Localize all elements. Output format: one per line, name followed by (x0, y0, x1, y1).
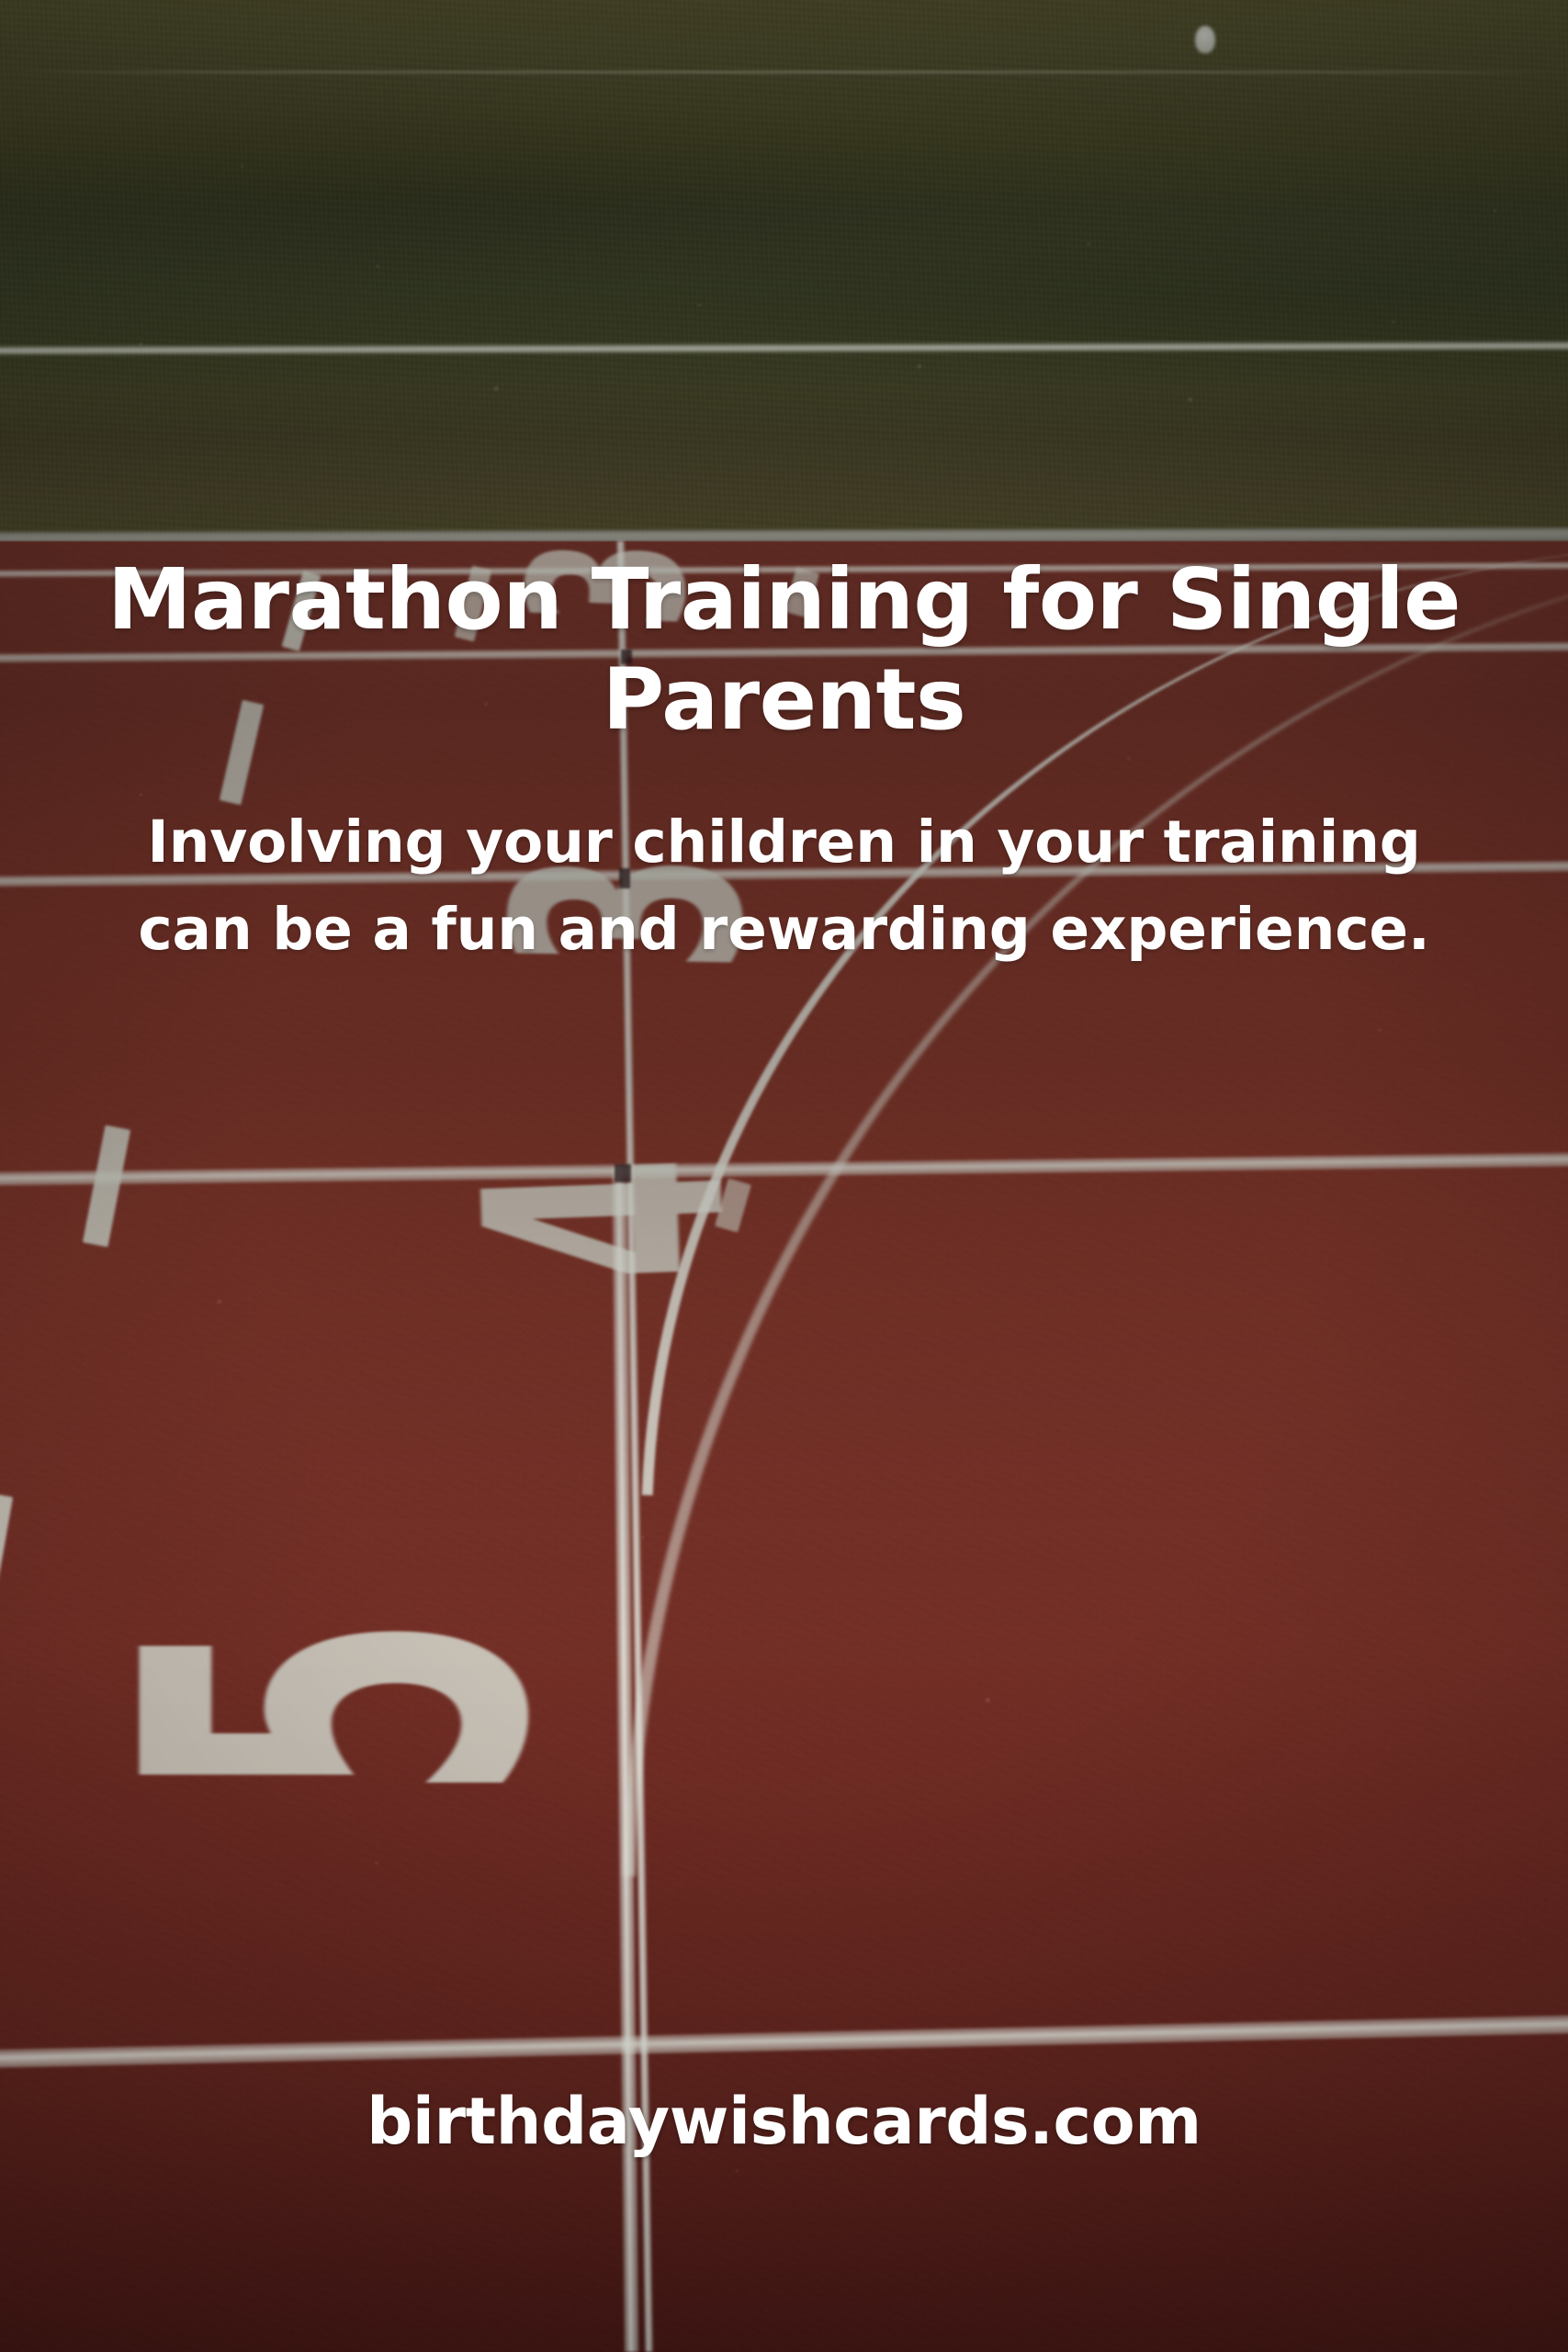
website-url: birthdaywishcards.com (0, 2084, 1568, 2159)
text-overlay: Marathon Training for Single Parents Inv… (0, 0, 1568, 2352)
title-block: Marathon Training for Single Parents (71, 550, 1497, 750)
card-subtitle: Involving your children in your training… (109, 799, 1458, 973)
card-title: Marathon Training for Single Parents (71, 550, 1497, 750)
subtitle-block: Involving your children in your training… (109, 799, 1458, 973)
pin-card: 3 3 4 5 Marathon Training for Single Par… (0, 0, 1568, 2352)
website-block: birthdaywishcards.com (0, 2084, 1568, 2159)
